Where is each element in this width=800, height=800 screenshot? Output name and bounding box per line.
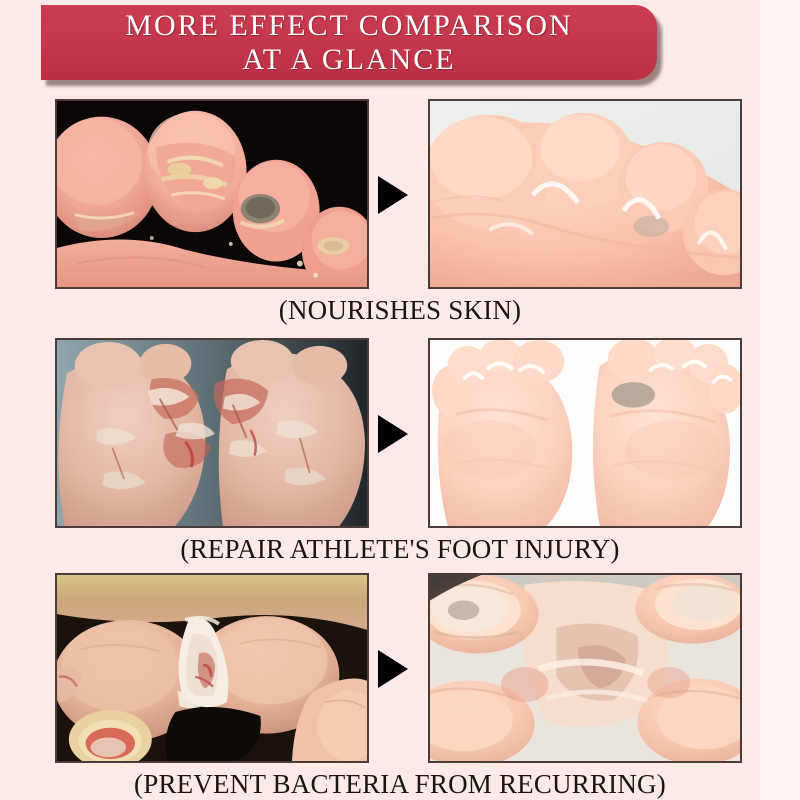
after-photo-1-image: [430, 101, 740, 287]
before-photo-1-image: [57, 101, 367, 287]
after-photo-2: [428, 338, 742, 528]
arrow-icon-2: [378, 415, 408, 453]
arrow-icon-1: [378, 176, 408, 214]
comparison-infographic: MORE EFFECT COMPARISON AT A GLANCE: [0, 0, 800, 800]
before-photo-3: [55, 573, 369, 763]
before-photo-2-image: [57, 340, 367, 526]
caption-3: (PREVENT BACTERIA FROM RECURRING): [0, 769, 800, 800]
before-photo-2: [55, 338, 369, 528]
before-photo-3-image: [57, 575, 367, 761]
after-photo-2-image: [430, 340, 740, 526]
arrow-icon-3: [378, 650, 408, 688]
right-edge-strip: [760, 0, 800, 800]
header-title-line-1: MORE EFFECT COMPARISON: [125, 9, 572, 43]
after-photo-1: [428, 99, 742, 289]
caption-1: (NOURISHES SKIN): [0, 295, 800, 326]
after-photo-3: [428, 573, 742, 763]
header-title-line-2: AT A GLANCE: [242, 43, 455, 77]
caption-2: (REPAIR ATHLETE'S FOOT INJURY): [0, 534, 800, 565]
header-banner-body: MORE EFFECT COMPARISON AT A GLANCE: [41, 5, 657, 80]
after-photo-3-image: [430, 575, 740, 761]
before-photo-1: [55, 99, 369, 289]
header-banner: MORE EFFECT COMPARISON AT A GLANCE: [41, 5, 657, 80]
